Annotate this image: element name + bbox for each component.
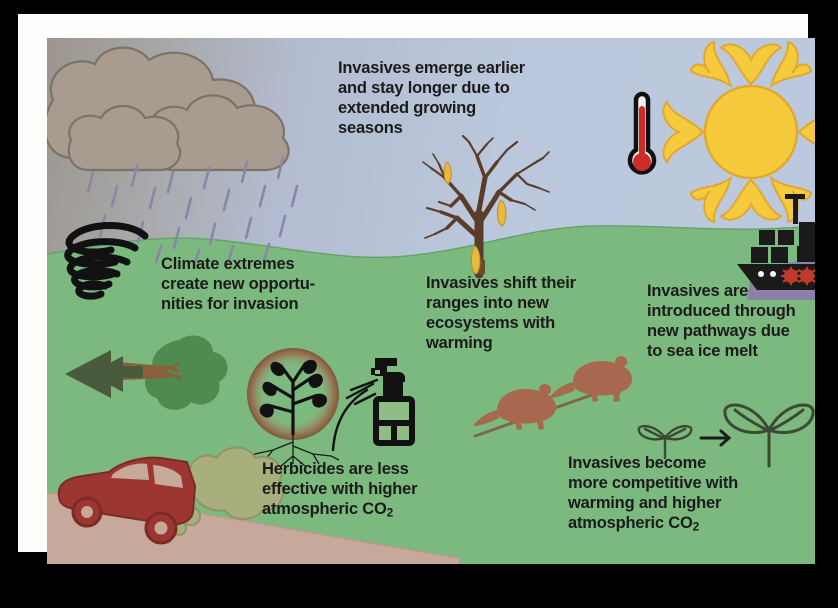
thermometer-icon — [622, 88, 662, 188]
annotation-range-shift: Invasives shift their ranges into new ec… — [426, 273, 606, 354]
infographic-canvas: Invasives emerge earlier and stay longer… — [47, 38, 815, 564]
annotation-herbicide-efficacy: Herbicides are less effective with highe… — [262, 459, 462, 520]
double-chevron-left-icon — [65, 350, 143, 398]
invasion-opportunity-group — [47, 316, 237, 426]
annotation-competitiveness: Invasives become more competitive with w… — [568, 453, 768, 534]
tornado-icon — [47, 218, 169, 308]
range-shift-group — [455, 348, 655, 448]
co2-label: atmospheric CO — [568, 514, 693, 532]
annotation-phenology: Invasives emerge earlier and stay longer… — [338, 58, 548, 139]
right-arrow-icon — [701, 431, 729, 445]
bare-tree-icon — [417, 134, 557, 274]
co2-label: atmospheric CO — [262, 500, 387, 518]
annotation-climate-extremes: Climate extremes create new opportu- nit… — [161, 254, 361, 314]
co2-subscript: 2 — [387, 506, 393, 520]
annotation-sea-ice-pathways: Invasives are introduced through new pat… — [647, 281, 815, 362]
co2-subscript: 2 — [693, 520, 699, 534]
figure-mat: Invasives emerge earlier and stay longer… — [18, 14, 808, 552]
figure-frame: Invasives emerge earlier and stay longer… — [0, 0, 838, 608]
